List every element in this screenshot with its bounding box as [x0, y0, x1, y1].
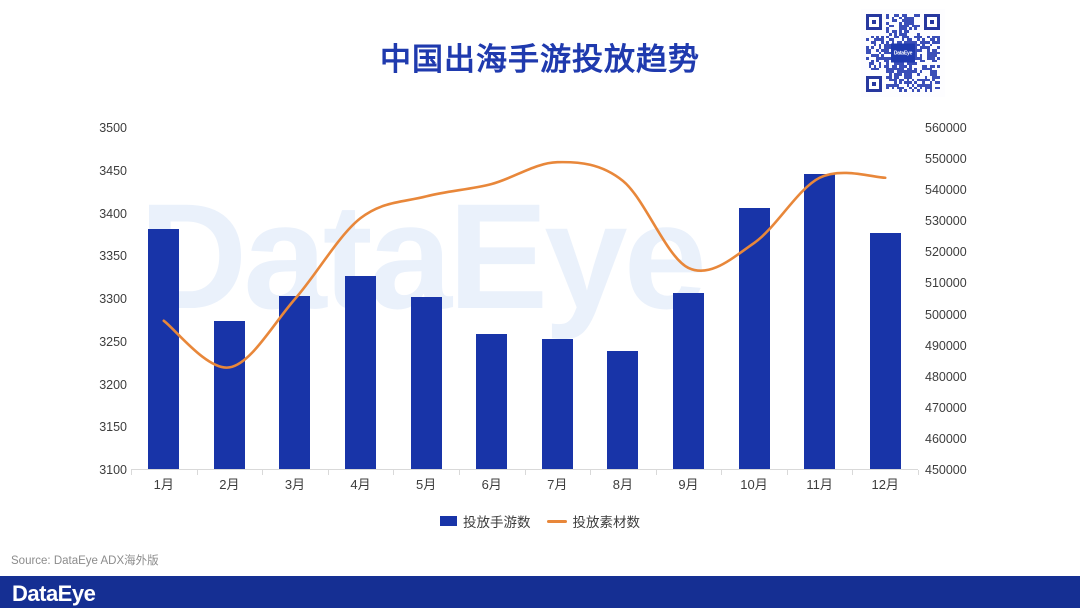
legend-item[interactable]: 投放素材数: [547, 511, 641, 531]
y-axis-right-tick: 540000: [925, 183, 985, 197]
x-axis-label: 5月: [396, 474, 456, 493]
x-axis-tick: [590, 470, 591, 475]
x-axis-tick: [328, 470, 329, 475]
x-axis-tick: [262, 470, 263, 475]
y-axis-left-tick: 3150: [83, 420, 127, 434]
x-axis-tick: [787, 470, 788, 475]
slide-root: 中国出海手游投放趋势 DataEye 350034503400335033003…: [0, 0, 1080, 608]
qr-code-pattern: DataEye: [866, 14, 940, 92]
x-axis-label: 6月: [462, 474, 522, 493]
y-axis-left-tick: 3250: [83, 335, 127, 349]
x-axis-tick: [721, 470, 722, 475]
x-axis-label: 1月: [134, 474, 194, 493]
y-axis-right-tick: 490000: [925, 339, 985, 353]
x-axis-labels: 1月2月3月4月5月6月7月8月9月10月11月12月: [131, 474, 918, 498]
x-axis-tick: [656, 470, 657, 475]
y-axis-right: 5600005500005400005300005200005100005000…: [925, 128, 985, 470]
x-axis-tick: [918, 470, 919, 475]
legend-line-swatch-icon: [547, 520, 567, 523]
y-axis-right-tick: 450000: [925, 463, 985, 477]
line-series: [131, 128, 918, 470]
y-axis-left-tick: 3100: [83, 463, 127, 477]
y-axis-left-tick: 3200: [83, 378, 127, 392]
footer-bar: DataEye: [0, 576, 1080, 608]
legend-label: 投放素材数: [573, 511, 641, 531]
x-axis-tick: [525, 470, 526, 475]
y-axis-right-tick: 560000: [925, 121, 985, 135]
x-axis-label: 10月: [724, 474, 784, 493]
qr-code[interactable]: DataEye: [861, 9, 945, 97]
y-axis-right-tick: 480000: [925, 370, 985, 384]
x-axis-tick: [852, 470, 853, 475]
y-axis-right-tick: 510000: [925, 276, 985, 290]
qr-center-logo: DataEye: [891, 44, 915, 63]
x-axis-label: 3月: [265, 474, 325, 493]
source-note: Source: DataEye ADX海外版: [11, 552, 159, 568]
x-axis-label: 4月: [331, 474, 391, 493]
legend-label: 投放手游数: [463, 511, 531, 531]
x-axis-label: 11月: [790, 474, 850, 493]
y-axis-left-tick: 3300: [83, 292, 127, 306]
plot-area: DataEye: [131, 128, 918, 470]
qr-finder-bottom-left: [866, 76, 882, 92]
y-axis-left-tick: 3350: [83, 249, 127, 263]
y-axis-right-tick: 470000: [925, 401, 985, 415]
y-axis-right-tick: 520000: [925, 245, 985, 259]
qr-finder-top-right: [924, 14, 940, 30]
line-path[interactable]: [164, 162, 885, 367]
y-axis-right-tick: 500000: [925, 308, 985, 322]
x-axis-tick: [459, 470, 460, 475]
chart-legend: 投放手游数投放素材数: [0, 511, 1080, 531]
x-axis-label: 8月: [593, 474, 653, 493]
x-axis-tick: [131, 470, 132, 475]
x-axis-tick: [393, 470, 394, 475]
y-axis-left: 350034503400335033003250320031503100: [83, 128, 127, 470]
x-axis-label: 7月: [527, 474, 587, 493]
legend-bar-swatch-icon: [440, 516, 457, 526]
x-axis-label: 9月: [658, 474, 718, 493]
x-axis-label: 12月: [855, 474, 915, 493]
y-axis-left-tick: 3400: [83, 207, 127, 221]
y-axis-right-tick: 550000: [925, 152, 985, 166]
qr-finder-top-left: [866, 14, 882, 30]
y-axis-right-tick: 460000: [925, 432, 985, 446]
legend-item[interactable]: 投放手游数: [440, 511, 531, 531]
y-axis-left-tick: 3450: [83, 164, 127, 178]
x-axis-tick: [197, 470, 198, 475]
y-axis-left-tick: 3500: [83, 121, 127, 135]
brand-logo: DataEye: [12, 581, 95, 607]
y-axis-right-tick: 530000: [925, 214, 985, 228]
x-axis-label: 2月: [199, 474, 259, 493]
